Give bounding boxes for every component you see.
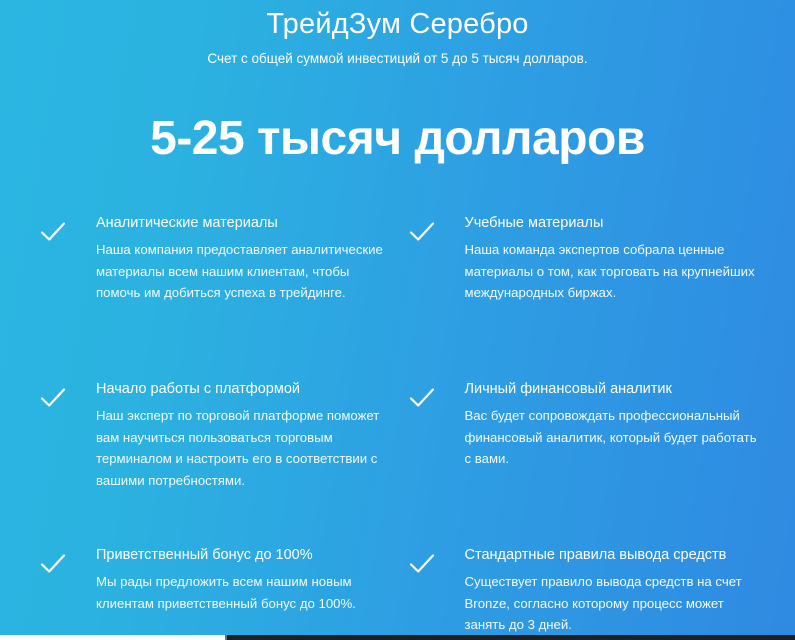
feature-title: Личный финансовый аналитик — [465, 379, 766, 400]
feature-text: Мы рады предложить всем нашим новым клие… — [96, 571, 386, 614]
check-icon-wrap — [407, 213, 465, 247]
check-icon-wrap — [407, 545, 465, 579]
check-icon — [38, 217, 68, 247]
feature-title: Приветственный бонус до 100% — [96, 545, 397, 566]
page-title: ТрейдЗум Серебро — [0, 6, 795, 42]
feature-text: Наша команда экспертов собрала ценные ма… — [465, 239, 765, 304]
check-icon — [38, 549, 68, 579]
feature-text: Вас будет сопровождать профессиональный … — [465, 405, 765, 470]
check-icon — [407, 549, 437, 579]
check-icon — [38, 383, 68, 413]
page-bottom-edge-divider — [225, 635, 227, 640]
feature-body: Учебные материалы Наша команда экспертов… — [465, 213, 766, 304]
feature-title: Учебные материалы — [465, 213, 766, 234]
feature-title: Стандартные правила вывода средств — [465, 545, 766, 566]
page-header: ТрейдЗум Серебро Счет с общей суммой инв… — [0, 0, 795, 69]
check-icon — [407, 217, 437, 247]
feature-item: Стандартные правила вывода средств Сущес… — [407, 545, 766, 640]
feature-title: Аналитические материалы — [96, 213, 397, 234]
check-icon-wrap — [38, 379, 96, 413]
check-icon-wrap — [38, 213, 96, 247]
feature-item: Учебные материалы Наша команда экспертов… — [407, 213, 766, 379]
feature-body: Приветственный бонус до 100% Мы рады пре… — [96, 545, 397, 614]
feature-body: Аналитические материалы Наша компания пр… — [96, 213, 397, 304]
check-icon — [407, 383, 437, 413]
feature-item: Начало работы с платформой Наш эксперт п… — [38, 379, 397, 545]
features-grid: Аналитические материалы Наша компания пр… — [0, 213, 795, 640]
plan-page: ТрейдЗум Серебро Счет с общей суммой инв… — [0, 0, 795, 640]
feature-body: Начало работы с платформой Наш эксперт п… — [96, 379, 397, 491]
feature-text: Наш эксперт по торговой платформе поможе… — [96, 405, 386, 491]
page-bottom-edge-light — [0, 635, 225, 640]
feature-item: Личный финансовый аналитик Вас будет соп… — [407, 379, 766, 545]
check-icon-wrap — [38, 545, 96, 579]
feature-item: Аналитические материалы Наша компания пр… — [38, 213, 397, 379]
feature-text: Наша компания предоставляет аналитически… — [96, 239, 386, 304]
feature-body: Личный финансовый аналитик Вас будет соп… — [465, 379, 766, 470]
feature-body: Стандартные правила вывода средств Сущес… — [465, 545, 766, 636]
feature-item: Приветственный бонус до 100% Мы рады пре… — [38, 545, 397, 640]
headline-amount-range: 5-25 тысяч долларов — [0, 111, 795, 167]
page-subtitle: Счет с общей суммой инвестиций от 5 до 5… — [0, 49, 795, 69]
check-icon-wrap — [407, 379, 465, 413]
feature-title: Начало работы с платформой — [96, 379, 397, 400]
feature-text: Существует правило вывода средств на сче… — [465, 571, 765, 636]
